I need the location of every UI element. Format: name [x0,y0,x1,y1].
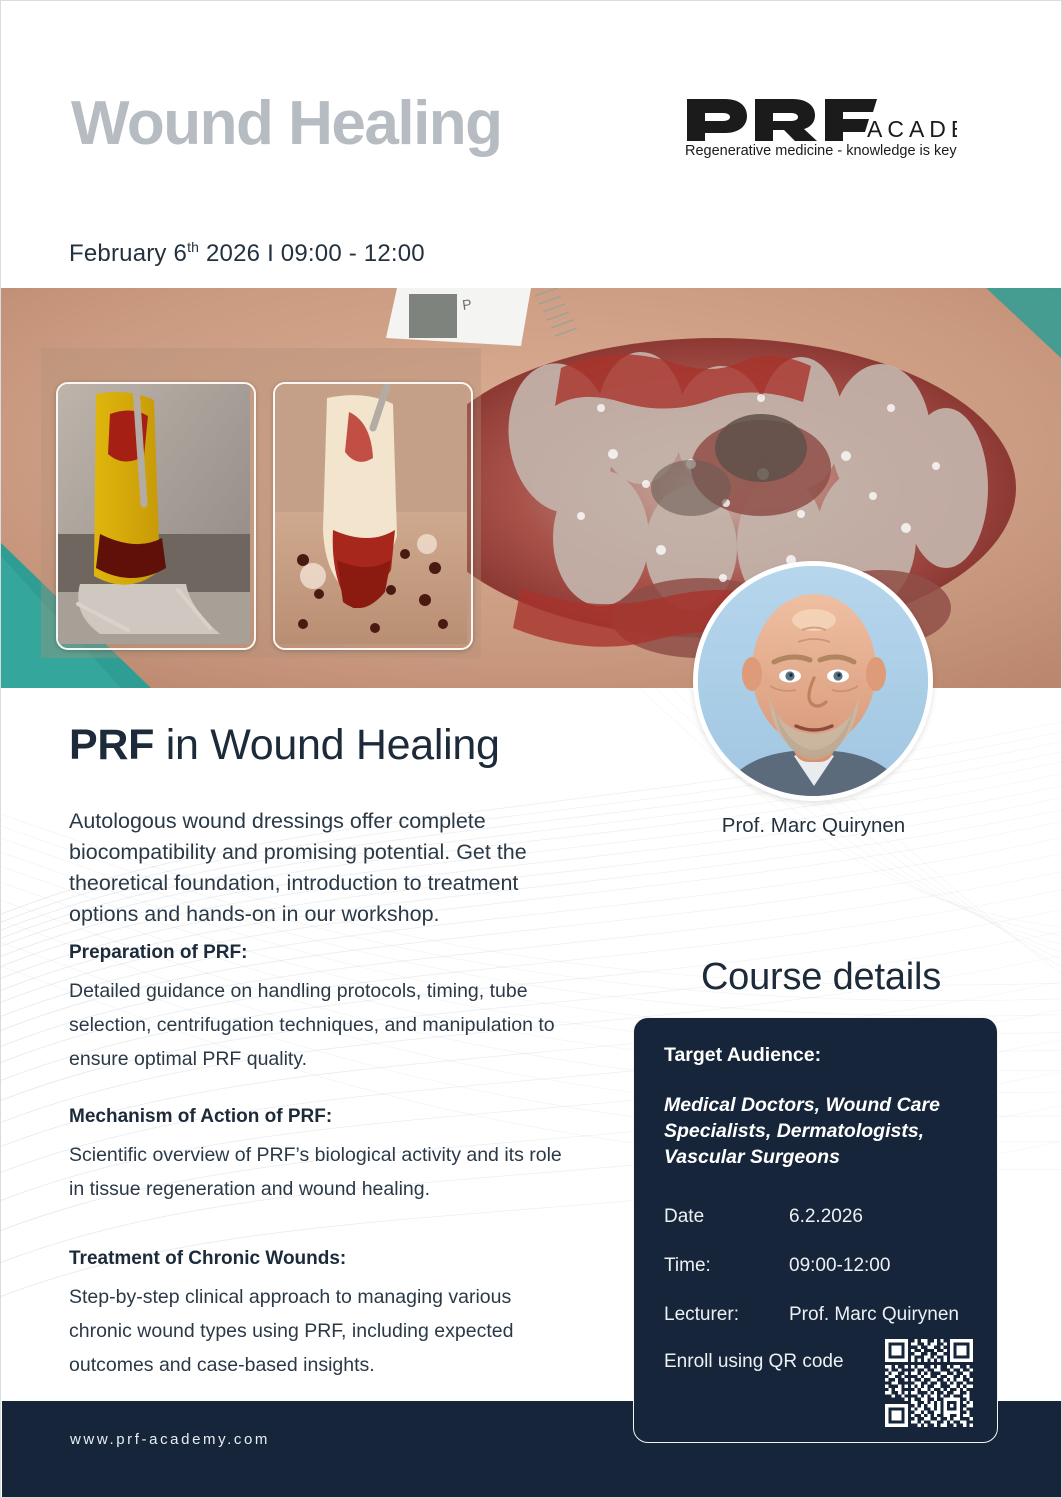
speaker-name: Prof. Marc Quirynen [641,814,986,838]
detail-time-key: Time: [664,1255,711,1277]
section-3-heading: Treatment of Chronic Wounds: [69,1248,569,1270]
qr-code[interactable] [882,1336,976,1430]
speaker-avatar [693,561,933,801]
section-1-heading: Preparation of PRF: [69,942,569,964]
page-title: Wound Healing [71,93,502,155]
section-1-body: Detailed guidance on handling protocols,… [69,974,569,1076]
intro-paragraph: Autologous wound dressings offer complet… [69,806,569,930]
prf-academy-logo: ACADEMY Regenerative medicine - knowledg… [685,97,965,177]
section-heading: PRF in Wound Healing [69,721,500,770]
content-section-preparation: Preparation of PRF: Detailed guidance on… [69,942,569,1076]
detail-lecturer-key: Lecturer: [664,1304,739,1326]
svg-text:ACADEMY: ACADEMY [867,116,957,142]
detail-time-value: 09:00-12:00 [789,1255,890,1277]
course-details-card: Target Audience: Medical Doctors, Wound … [633,1017,998,1443]
target-audience-value: Medical Doctors, Wound Care Specialists,… [664,1092,964,1170]
detail-date-value: 6.2.2026 [789,1206,863,1228]
content-section-treatment: Treatment of Chronic Wounds: Step-by-ste… [69,1248,569,1382]
section-heading-bold: PRF [69,721,154,769]
website-url[interactable]: www.prf-academy.com [70,1431,270,1448]
enroll-label: Enroll using QR code [664,1351,844,1373]
hero-inset-image-1 [56,382,256,650]
detail-lecturer-value: Prof. Marc Quirynen [789,1304,959,1326]
content-section-mechanism: Mechanism of Action of PRF: Scientific o… [69,1106,574,1206]
event-date-time: February 6th 2026 I 09:00 - 12:00 [69,239,425,268]
hero-inset-image-2 [273,382,473,650]
poster-page: Wound Healing February 6th 2026 I 09:00 … [0,0,1062,1498]
section-3-body: Step-by-step clinical approach to managi… [69,1280,569,1382]
date-ordinal-suffix: th [187,239,199,255]
course-details-title: Course details [641,956,1001,999]
logo-tagline: Regenerative medicine - knowledge is key [685,143,965,159]
section-heading-rest: in Wound Healing [154,721,500,769]
target-audience-label: Target Audience: [664,1044,821,1067]
poster-header: Wound Healing February 6th 2026 I 09:00 … [1,1,1062,288]
date-suffix: 2026 I 09:00 - 12:00 [199,240,425,267]
detail-date-key: Date [664,1206,704,1228]
section-2-heading: Mechanism of Action of PRF: [69,1106,574,1128]
date-prefix: February 6 [69,240,187,267]
section-2-body: Scientific overview of PRF’s biological … [69,1138,574,1206]
prf-logo-mark: ACADEMY [685,97,957,143]
